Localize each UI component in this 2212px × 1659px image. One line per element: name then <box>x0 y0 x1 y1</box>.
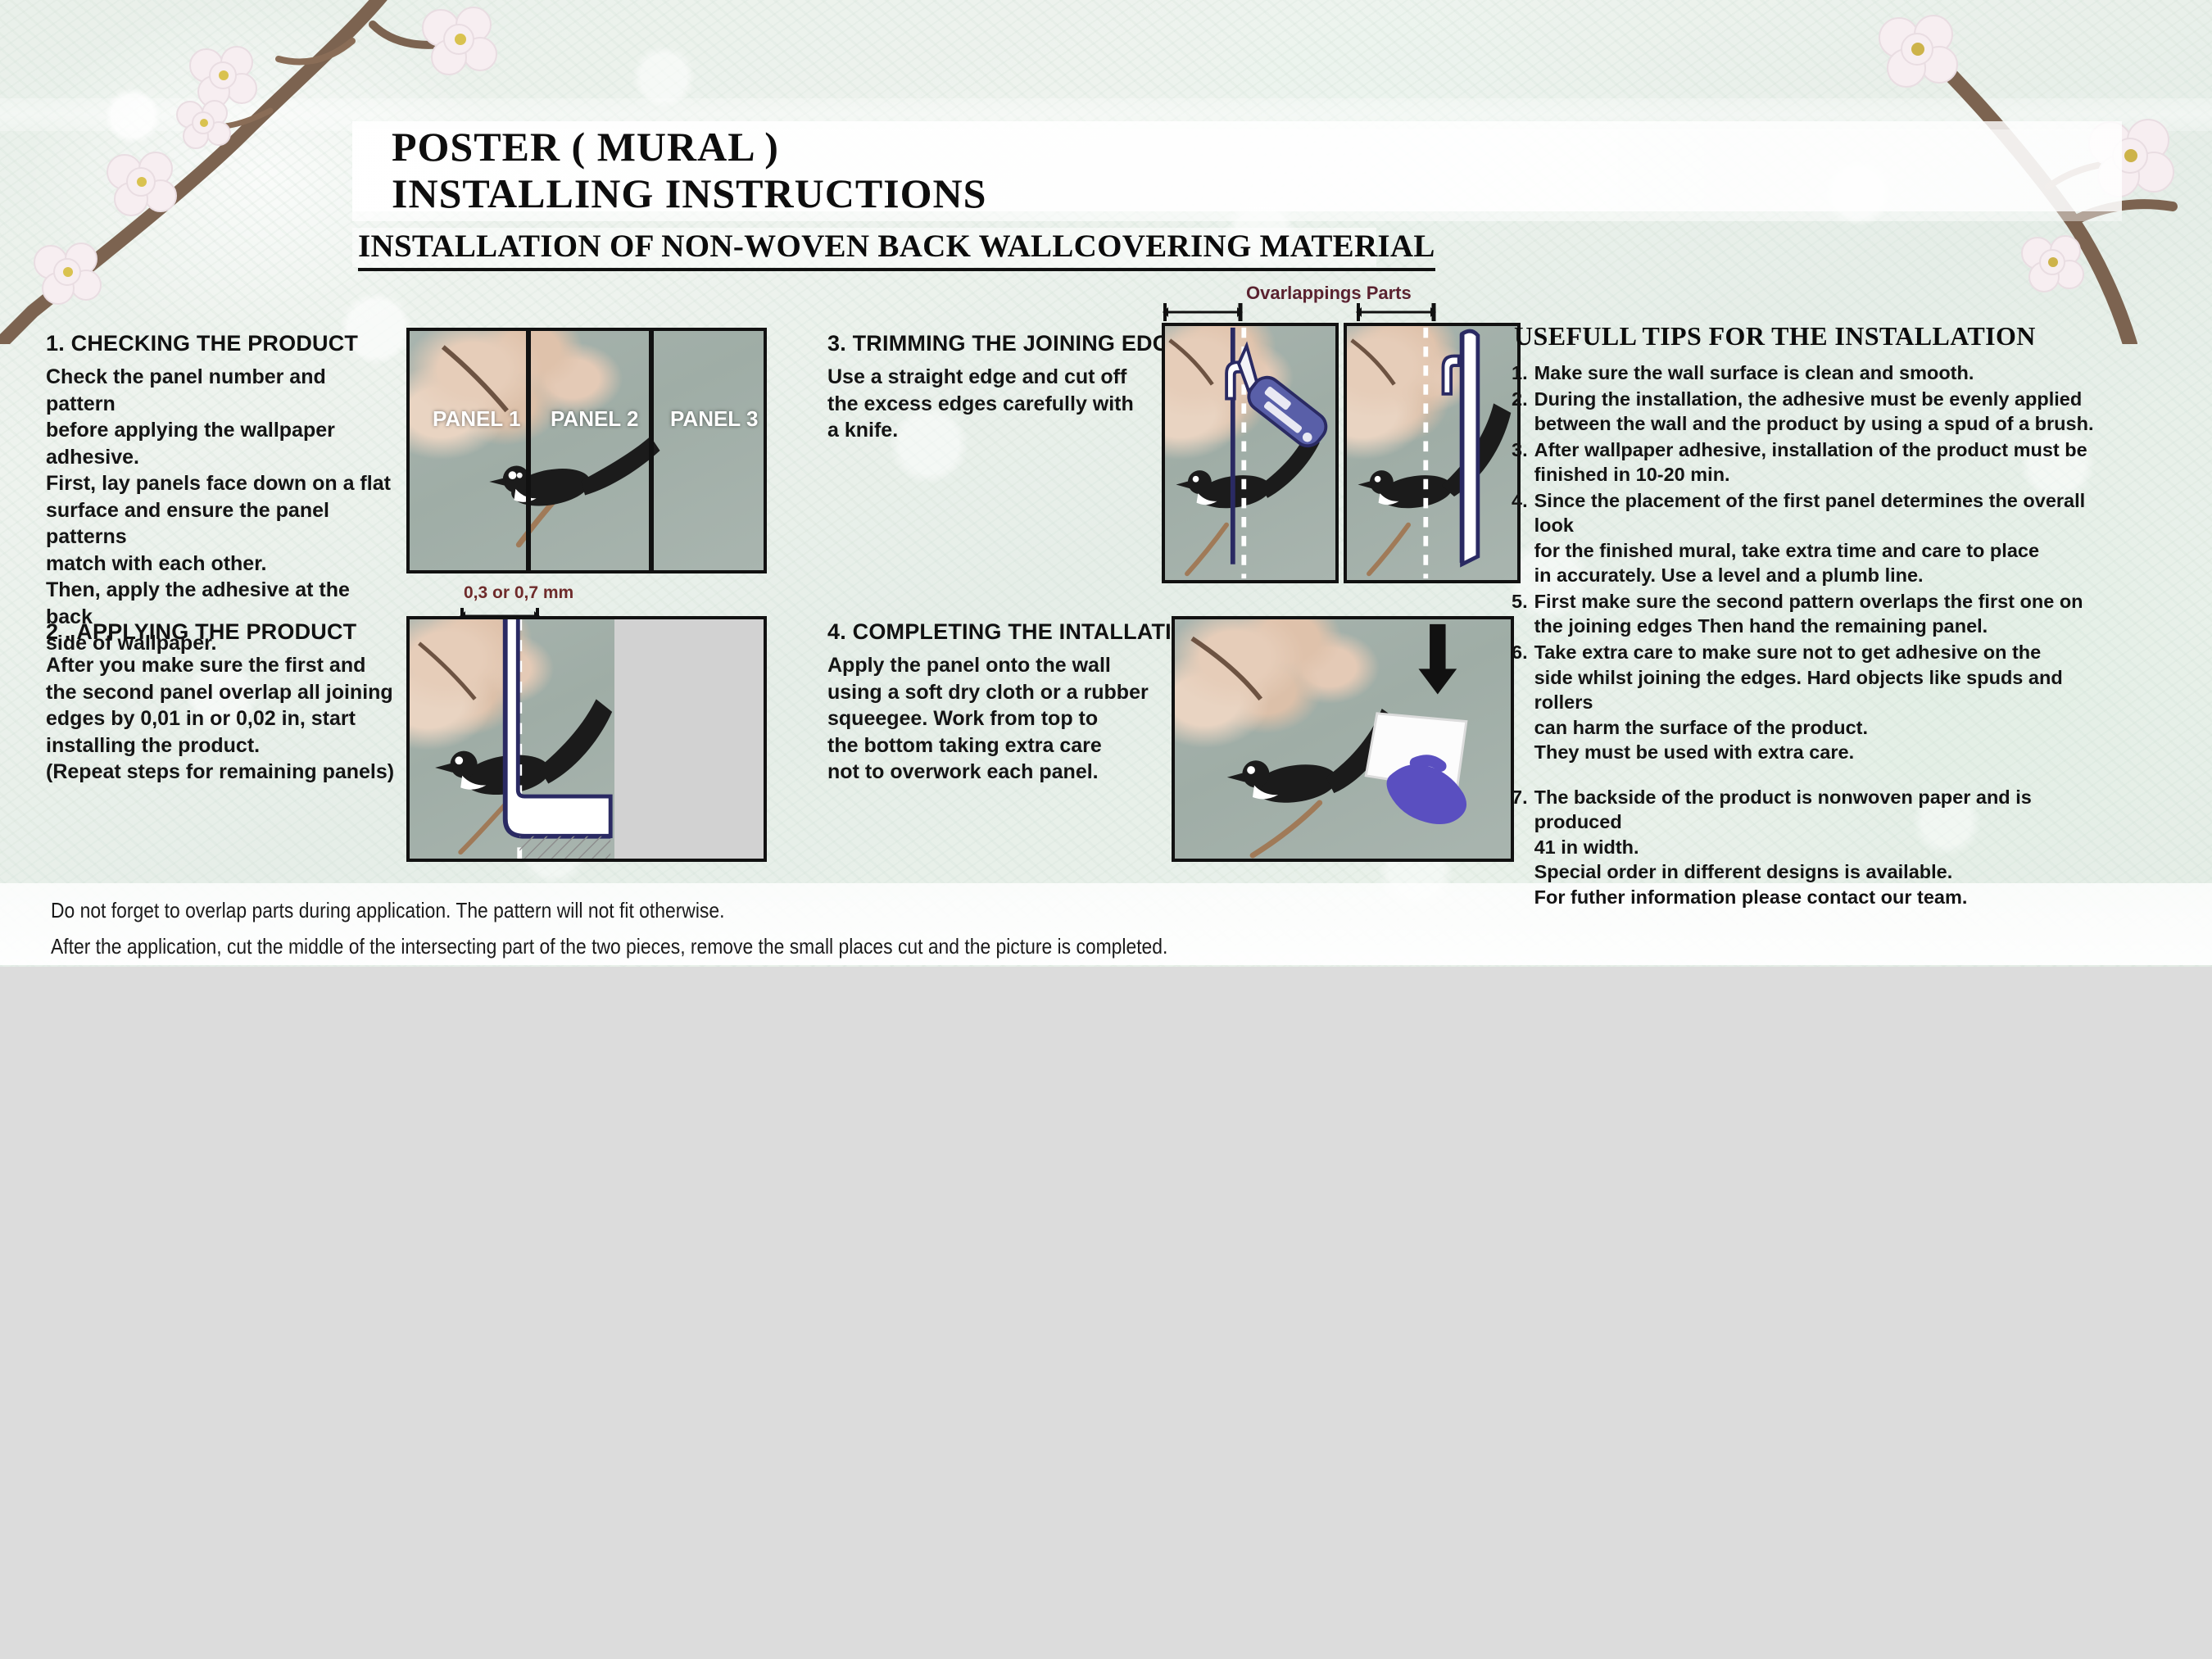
tip-text: Take extra care to make sure not to get … <box>1534 640 2118 765</box>
step-2-heading: 2 . APPLYING THE PRODUCT <box>46 619 356 645</box>
tip-text: First make sure the second pattern overl… <box>1534 589 2083 639</box>
tip-text: During the installation, the adhesive mu… <box>1534 387 2094 437</box>
panel-2-label: PANEL 2 <box>551 406 638 432</box>
tip-number: 2. <box>1512 387 1528 437</box>
tips-list: 1. Make sure the wall surface is clean a… <box>1512 360 2118 910</box>
mural-bird-art <box>410 331 764 570</box>
page-title-line-1: POSTER ( MURAL ) <box>392 123 779 170</box>
tip-item: 6. Take extra care to make sure not to g… <box>1512 640 2118 765</box>
footer-note-1: Do not forget to overlap parts during ap… <box>51 898 724 923</box>
step-1-body: Check the panel number and pattern befor… <box>46 364 398 657</box>
tip-item: 5. First make sure the second pattern ov… <box>1512 589 2118 639</box>
tip-text: After wallpaper adhesive, installation o… <box>1534 437 2087 487</box>
tip-item: 7. The backside of the product is nonwov… <box>1512 785 2118 910</box>
installation-instructions-panel: POSTER ( MURAL ) INSTALLING INSTRUCTIONS… <box>0 0 2212 967</box>
footer-note-2: After the application, cut the middle of… <box>51 934 1167 959</box>
step-4-body: Apply the panel onto the wall using a so… <box>827 652 1155 786</box>
tip-number: 6. <box>1512 640 1528 765</box>
step-3-diagram-straightedge <box>1344 323 1521 583</box>
squeegee-illustration <box>1175 619 1511 859</box>
tip-item: 1. Make sure the wall surface is clean a… <box>1512 360 2118 386</box>
step-2-overlap-illustration <box>410 619 764 859</box>
tips-section-title: USEFULL TIPS FOR THE INSTALLATION <box>1514 321 2036 351</box>
poster-root: POSTER ( MURAL ) INSTALLING INSTRUCTIONS… <box>0 0 2212 1659</box>
step-3-body: Use a straight edge and cut off the exce… <box>827 364 1139 444</box>
panel-1-label: PANEL 1 <box>433 406 520 432</box>
step-4-diagram <box>1172 616 1514 862</box>
step-2-diagram <box>406 616 767 862</box>
overlap-arrows-icon <box>1162 301 1440 323</box>
trimming-with-knife-illustration <box>1165 326 1335 580</box>
tip-number: 5. <box>1512 589 1528 639</box>
step-4-heading: 4. COMPLETING THE INTALLATION <box>827 619 1205 645</box>
tip-item: 4. Since the placement of the first pane… <box>1512 488 2118 588</box>
product-description-panel: NON-ADHESIVE BACKING WALL MURAL Please a… <box>0 967 2212 1659</box>
page-subtitle: INSTALLATION OF NON-WOVEN BACK WALLCOVER… <box>358 228 1435 271</box>
step-1-diagram: PANEL 1 PANEL 2 PANEL 3 <box>406 328 767 573</box>
tip-number: 4. <box>1512 488 1528 588</box>
step-3-heading: 3. TRIMMING THE JOINING EDGES <box>827 331 1199 356</box>
tip-item: 2. During the installation, the adhesive… <box>1512 387 2118 437</box>
tip-text: Make sure the wall surface is clean and … <box>1534 360 1974 386</box>
step-3-diagram-knife <box>1162 323 1339 583</box>
step-2-body: After you make sure the first and the se… <box>46 652 398 786</box>
step-1-heading: 1. CHECKING THE PRODUCT <box>46 331 358 356</box>
tip-text: The backside of the product is nonwoven … <box>1534 785 2118 910</box>
overlap-measure-label: 0,3 or 0,7 mm <box>464 583 573 603</box>
page-title-line-2: INSTALLING INSTRUCTIONS <box>392 170 986 217</box>
tip-text: Since the placement of the first panel d… <box>1534 488 2118 588</box>
tip-number: 3. <box>1512 437 1528 487</box>
panel-3-label: PANEL 3 <box>670 406 758 432</box>
tip-number: 1. <box>1512 360 1528 386</box>
straight-edge-illustration <box>1347 326 1517 580</box>
tip-item: 3. After wallpaper adhesive, installatio… <box>1512 437 2118 487</box>
tip-number: 7. <box>1512 785 1528 910</box>
